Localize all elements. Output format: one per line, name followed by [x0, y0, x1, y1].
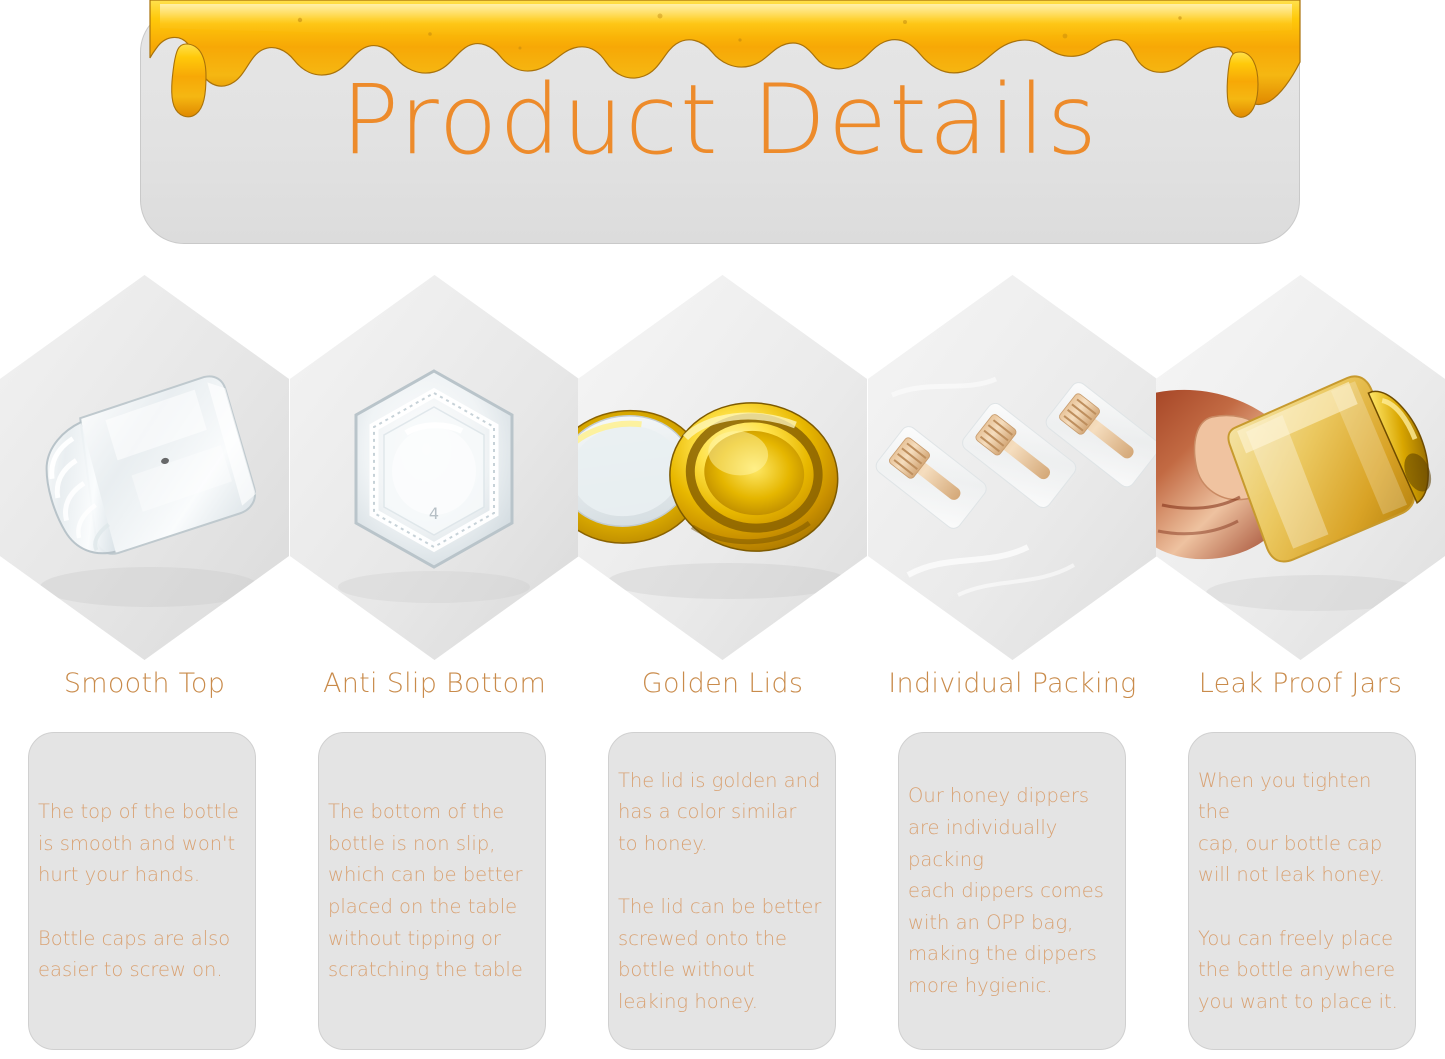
description-card-golden-lids: The lid is golden and has a color simila…: [608, 732, 836, 1050]
feature-image-golden-lids: [578, 275, 867, 660]
description-text: Our honey dippers are individually packi…: [899, 780, 1125, 1001]
feature-image-leak-proof-jars: [1156, 275, 1445, 660]
feature-label-row: Smooth Top Anti Slip Bottom Golden Lids …: [0, 668, 1445, 710]
description-text: The top of the bottle is smooth and won'…: [29, 796, 255, 985]
feature-image-individual-packing: [868, 275, 1157, 660]
feature-image-smooth-top: [0, 275, 289, 660]
description-card-smooth-top: The top of the bottle is smooth and won'…: [28, 732, 256, 1050]
page-title: Product Details: [140, 72, 1300, 168]
feature-description-row: The top of the bottle is smooth and won'…: [0, 732, 1445, 1052]
header-banner: Product Details: [0, 0, 1445, 270]
description-card-anti-slip-bottom: The bottom of the bottle is non slip, wh…: [318, 732, 546, 1050]
description-card-leak-proof-jars: When you tighten the cap, our bottle cap…: [1188, 732, 1416, 1050]
description-card-individual-packing: Our honey dippers are individually packi…: [898, 732, 1126, 1050]
feature-label-golden-lids: Golden Lids: [578, 668, 867, 699]
svg-text:4: 4: [429, 504, 439, 523]
feature-label-leak-proof-jars: Leak Proof Jars: [1156, 668, 1445, 699]
description-text: When you tighten the cap, our bottle cap…: [1189, 765, 1415, 1018]
feature-image-row: 4: [0, 275, 1445, 660]
feature-image-anti-slip-bottom: 4: [290, 275, 579, 660]
feature-label-individual-packing: Individual Packing: [868, 668, 1157, 699]
feature-label-smooth-top: Smooth Top: [0, 668, 289, 699]
description-text: The lid is golden and has a color simila…: [609, 765, 835, 1018]
description-text: The bottom of the bottle is non slip, wh…: [319, 796, 545, 985]
feature-label-anti-slip-bottom: Anti Slip Bottom: [290, 668, 579, 699]
